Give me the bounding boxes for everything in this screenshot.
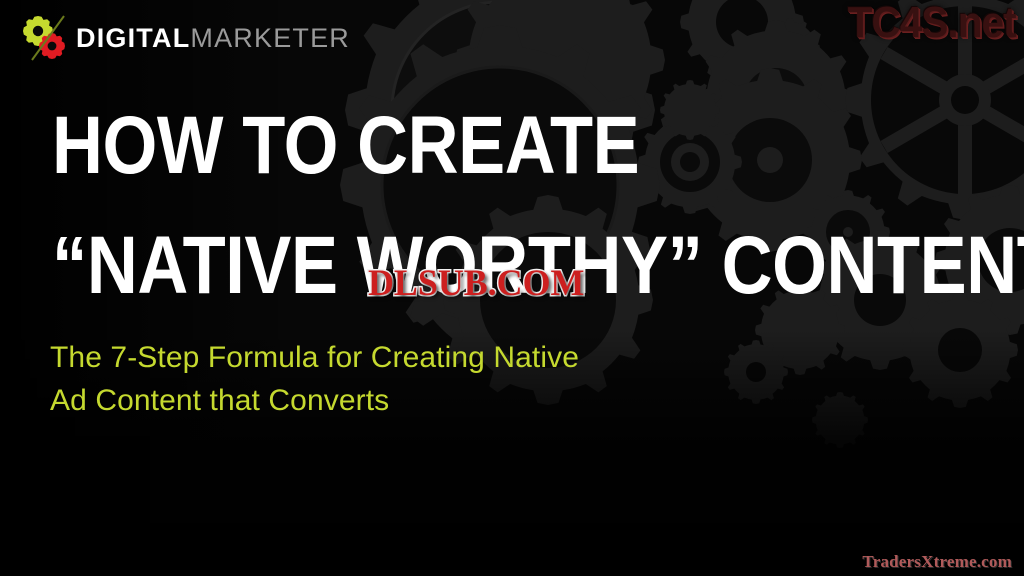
watermark-top-right: TC4S.net <box>848 0 1016 48</box>
watermark-center: DLSUB.COM <box>368 262 584 305</box>
presentation-slide: DIGITALMARKETER HOW TO CREATE “NATIVE WO… <box>0 0 1024 576</box>
subtitle-line-1: The 7-Step Formula for Creating Native <box>50 337 579 380</box>
brand-wordmark: DIGITALMARKETER <box>76 25 350 52</box>
brand-name-bold: DIGITAL <box>76 23 190 53</box>
headline-line-1: HOW TO CREATE <box>52 108 639 183</box>
subtitle: The 7-Step Formula for Creating Native A… <box>50 337 579 422</box>
subtitle-line-2: Ad Content that Converts <box>50 380 579 423</box>
brand-name-light: MARKETER <box>190 23 350 53</box>
watermark-bottom-right: TradersXtreme.com <box>862 552 1012 572</box>
brand-logo: DIGITALMARKETER <box>18 14 350 62</box>
two-gears-icon <box>18 14 74 62</box>
